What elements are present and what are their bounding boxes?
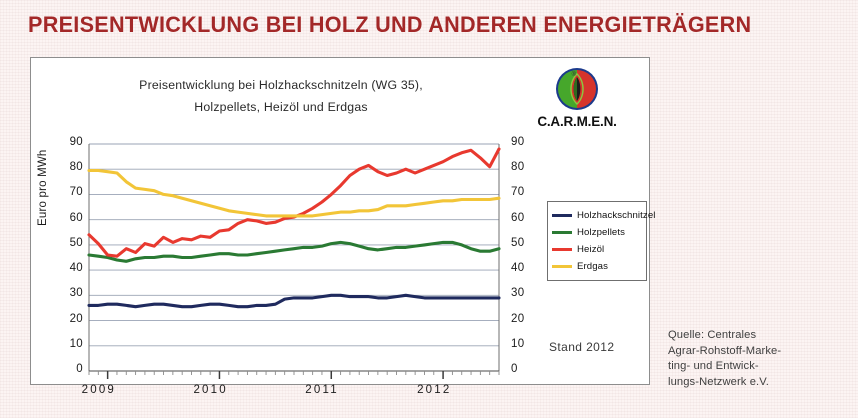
source-line-1: Quelle: Centrales: [668, 328, 843, 344]
legend-swatch-icon: [552, 231, 572, 234]
page-title: PREISENTWICKLUNG BEI HOLZ UND ANDEREN EN…: [28, 12, 751, 38]
source-line-3: ting- und Entwick-: [668, 359, 843, 375]
plot-area: Euro pro MWh 001010202030304040505060607…: [31, 58, 651, 386]
legend-item-label: Holzpellets: [577, 227, 625, 238]
legend-swatch-icon: [552, 248, 572, 251]
legend-item-holzpellets[interactable]: Holzpellets: [552, 224, 641, 241]
legend-swatch-icon: [552, 214, 572, 217]
chart-card: Preisentwicklung bei Holzhackschnitzeln …: [30, 57, 650, 385]
legend-rows: HolzhackschnitzelHolzpelletsHeizölErdgas: [552, 207, 641, 275]
legend-swatch-icon: [552, 265, 572, 268]
legend-item-label: Erdgas: [577, 261, 608, 272]
legend-item-label: Heizöl: [577, 244, 604, 255]
chart-legend: HolzhackschnitzelHolzpelletsHeizölErdgas: [547, 201, 647, 281]
source-note: Quelle: Centrales Agrar-Rohstoff-Marke- …: [668, 328, 843, 390]
stand-label: Stand 2012: [549, 340, 614, 354]
legend-item-holzhackschnitzel[interactable]: Holzhackschnitzel: [552, 207, 641, 224]
source-line-2: Agrar-Rohstoff-Marke-: [668, 344, 843, 360]
source-line-4: lungs-Netzwerk e.V.: [668, 375, 843, 391]
legend-item-label: Holzhackschnitzel: [577, 210, 655, 221]
legend-item-heiz-l[interactable]: Heizöl: [552, 241, 641, 258]
legend-item-erdgas[interactable]: Erdgas: [552, 258, 641, 275]
